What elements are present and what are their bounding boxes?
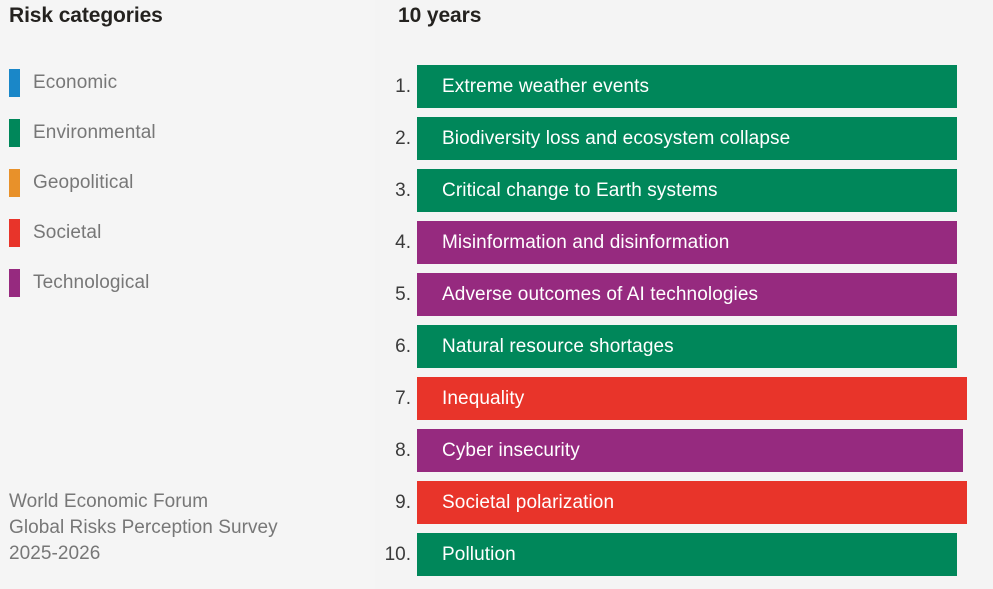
risk-categories-panel: Risk categories EconomicEnvironmentalGeo… xyxy=(0,0,375,589)
rank-number: 1. xyxy=(375,65,417,108)
risk-rank-row[interactable]: 3.Critical change to Earth systems xyxy=(375,169,993,212)
legend-color-swatch xyxy=(9,219,20,247)
risk-label: Inequality xyxy=(442,388,524,410)
legend-item-label: Societal xyxy=(33,222,101,244)
risk-rank-row[interactable]: 8.Cyber insecurity xyxy=(375,429,993,472)
legend-color-swatch xyxy=(9,69,20,97)
risk-rank-row[interactable]: 4.Misinformation and disinformation xyxy=(375,221,993,264)
risk-label: Misinformation and disinformation xyxy=(442,232,729,254)
legend-item-label: Economic xyxy=(33,72,117,94)
legend-item-label: Geopolitical xyxy=(33,172,133,194)
risk-ranking-page: Risk categories EconomicEnvironmentalGeo… xyxy=(0,0,993,589)
risk-rank-row[interactable]: 9.Societal polarization xyxy=(375,481,993,524)
risk-rank-row[interactable]: 5.Adverse outcomes of AI technologies xyxy=(375,273,993,316)
source-line-3: 2025-2026 xyxy=(9,541,278,567)
rank-number: 7. xyxy=(375,377,417,420)
rank-number: 8. xyxy=(375,429,417,472)
risk-ranking-list: 1.Extreme weather events2.Biodiversity l… xyxy=(375,65,993,585)
risk-bar[interactable]: Extreme weather events xyxy=(417,65,957,108)
rank-number: 2. xyxy=(375,117,417,160)
risk-label: Biodiversity loss and ecosystem collapse xyxy=(442,128,790,150)
timeframe-title: 10 years xyxy=(398,4,481,28)
rank-number: 9. xyxy=(375,481,417,524)
risk-label: Extreme weather events xyxy=(442,76,649,98)
risk-bar[interactable]: Cyber insecurity xyxy=(417,429,963,472)
risk-label: Pollution xyxy=(442,544,516,566)
risk-label: Critical change to Earth systems xyxy=(442,180,718,202)
legend-item[interactable]: Geopolitical xyxy=(9,158,349,208)
rank-number: 4. xyxy=(375,221,417,264)
ranking-panel: 10 years 1.Extreme weather events2.Biodi… xyxy=(375,0,993,589)
risk-label: Cyber insecurity xyxy=(442,440,580,462)
rank-number: 5. xyxy=(375,273,417,316)
source-line-1: World Economic Forum xyxy=(9,489,278,515)
page-title: Risk categories xyxy=(9,4,163,28)
risk-bar[interactable]: Natural resource shortages xyxy=(417,325,957,368)
risk-rank-row[interactable]: 2.Biodiversity loss and ecosystem collap… xyxy=(375,117,993,160)
risk-category-legend: EconomicEnvironmentalGeopoliticalSocieta… xyxy=(9,58,349,308)
legend-item-label: Environmental xyxy=(33,122,156,144)
risk-label: Adverse outcomes of AI technologies xyxy=(442,284,758,306)
risk-rank-row[interactable]: 1.Extreme weather events xyxy=(375,65,993,108)
risk-label: Societal polarization xyxy=(442,492,614,514)
rank-number: 10. xyxy=(375,533,417,576)
risk-rank-row[interactable]: 6.Natural resource shortages xyxy=(375,325,993,368)
source-line-2: Global Risks Perception Survey xyxy=(9,515,278,541)
risk-bar[interactable]: Inequality xyxy=(417,377,967,420)
risk-bar[interactable]: Critical change to Earth systems xyxy=(417,169,957,212)
risk-label: Natural resource shortages xyxy=(442,336,674,358)
risk-rank-row[interactable]: 7.Inequality xyxy=(375,377,993,420)
legend-item[interactable]: Environmental xyxy=(9,108,349,158)
risk-bar[interactable]: Biodiversity loss and ecosystem collapse xyxy=(417,117,957,160)
legend-color-swatch xyxy=(9,169,20,197)
risk-bar[interactable]: Adverse outcomes of AI technologies xyxy=(417,273,957,316)
legend-color-swatch xyxy=(9,269,20,297)
legend-item-label: Technological xyxy=(33,272,149,294)
legend-color-swatch xyxy=(9,119,20,147)
risk-bar[interactable]: Pollution xyxy=(417,533,957,576)
rank-number: 3. xyxy=(375,169,417,212)
legend-item[interactable]: Technological xyxy=(9,258,349,308)
rank-number: 6. xyxy=(375,325,417,368)
legend-item[interactable]: Economic xyxy=(9,58,349,108)
legend-item[interactable]: Societal xyxy=(9,208,349,258)
risk-rank-row[interactable]: 10.Pollution xyxy=(375,533,993,576)
source-note: World Economic Forum Global Risks Percep… xyxy=(9,489,278,567)
risk-bar[interactable]: Societal polarization xyxy=(417,481,967,524)
risk-bar[interactable]: Misinformation and disinformation xyxy=(417,221,957,264)
